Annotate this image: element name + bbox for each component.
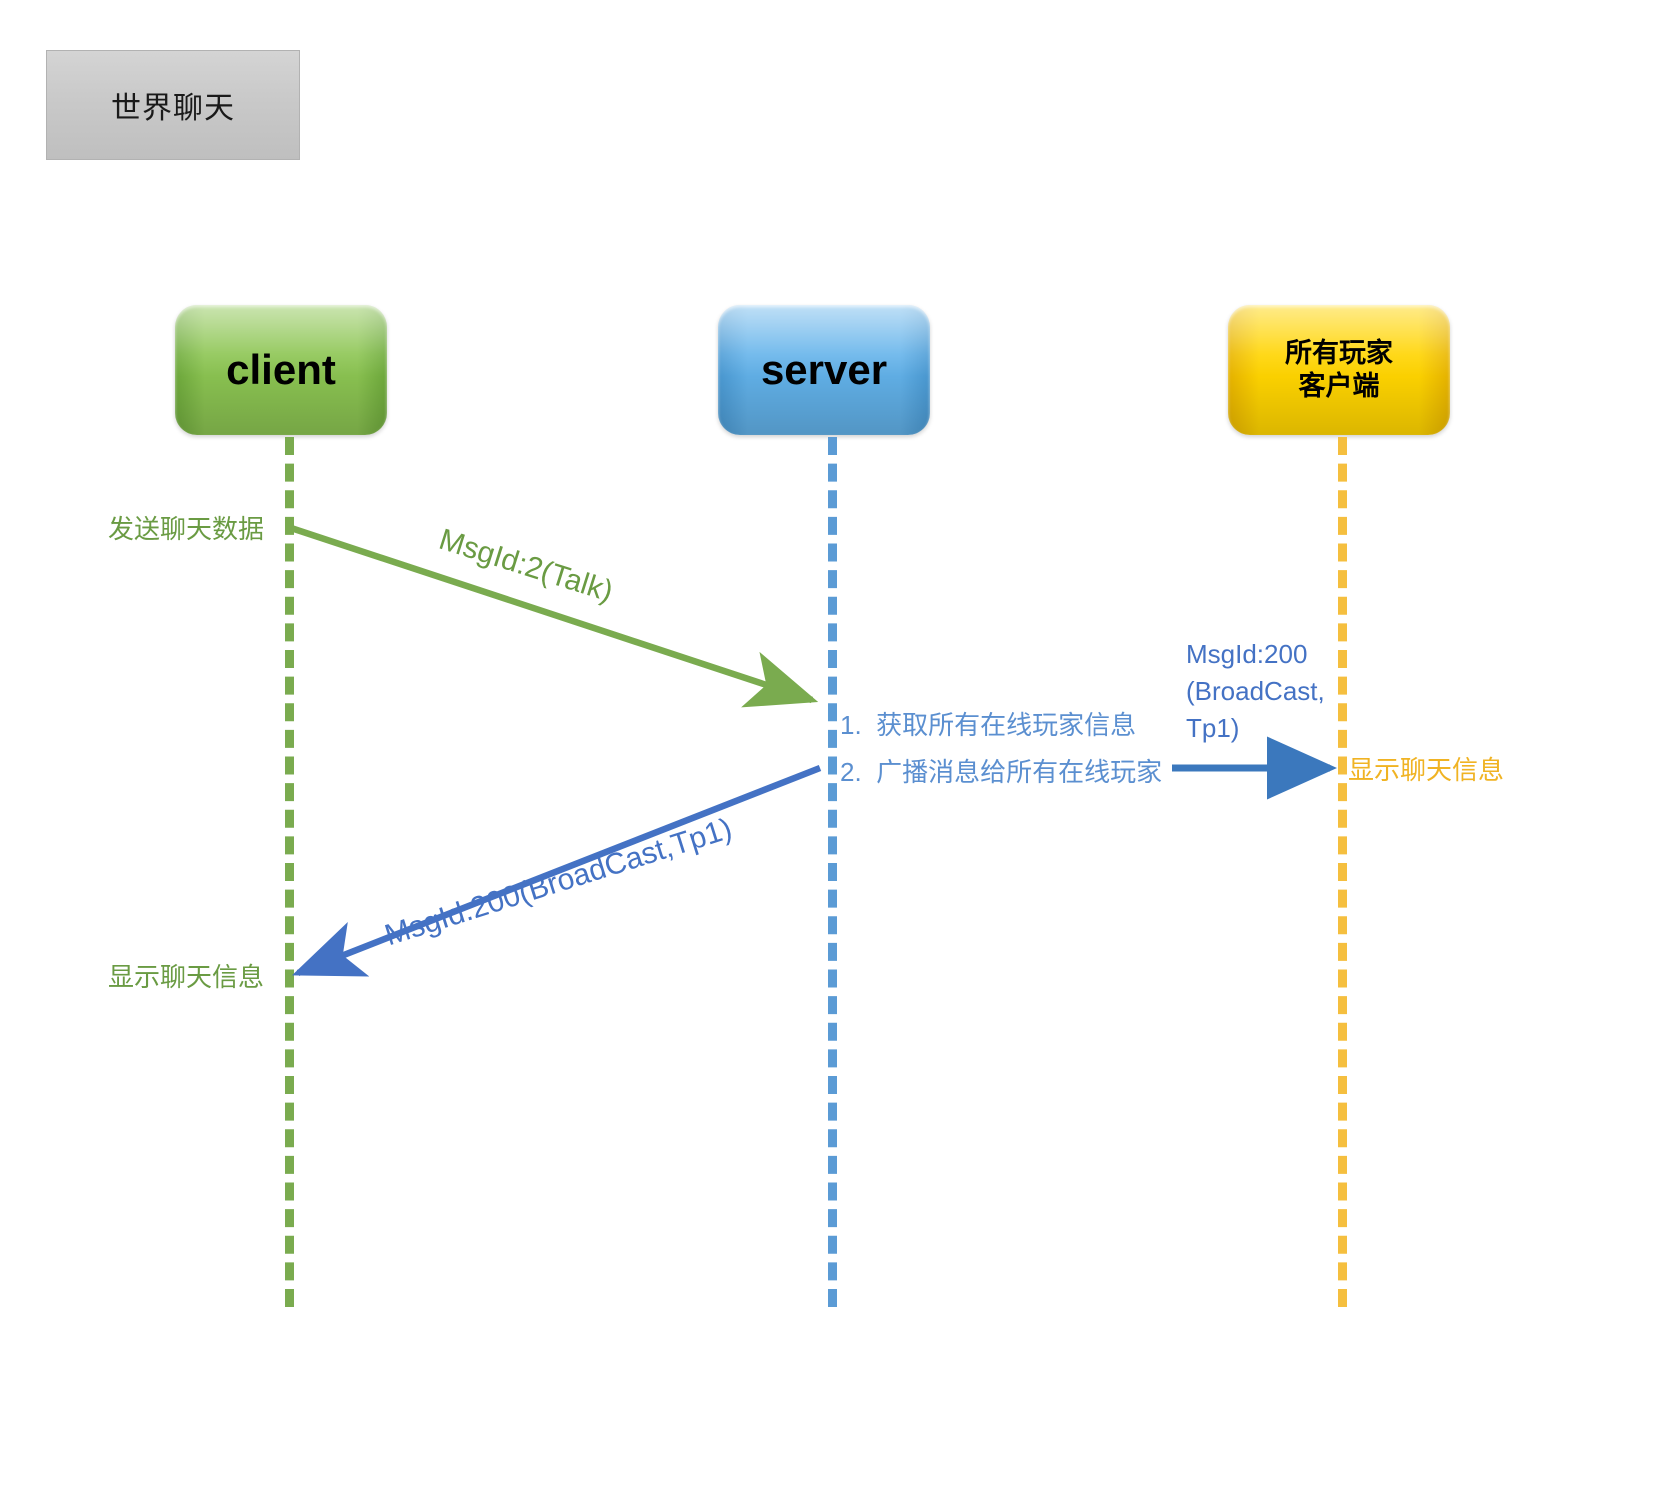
message-label-broadcast-to-all-line1: MsgId:200 bbox=[1186, 636, 1326, 673]
lifeline-all-players bbox=[1338, 437, 1347, 1307]
server-processing-steps: 1. 获取所有在线玩家信息 2. 广播消息给所有在线玩家 bbox=[840, 705, 1162, 799]
participant-all-players-label-line1: 所有玩家 bbox=[1285, 337, 1393, 370]
note-show-chat-info-all-players: 显示聊天信息 bbox=[1348, 753, 1504, 788]
message-label-broadcast-to-all: MsgId:200 (BroadCast, Tp1) bbox=[1186, 636, 1326, 747]
diagram-title-box: 世界聊天 bbox=[46, 50, 300, 160]
message-label-broadcast-to-all-line3: Tp1) bbox=[1186, 710, 1326, 747]
lifeline-server bbox=[828, 437, 837, 1307]
note-send-chat-data: 发送聊天数据 bbox=[108, 512, 264, 547]
message-label-broadcast-to-client: MsgId:200(BroadCast,Tp1) bbox=[380, 809, 737, 956]
participant-all-players-client[interactable]: 所有玩家 客户端 bbox=[1228, 305, 1450, 435]
participant-server-label: server bbox=[761, 344, 887, 395]
participant-server[interactable]: server bbox=[718, 305, 930, 435]
message-label-broadcast-to-all-line2: (BroadCast, bbox=[1186, 673, 1326, 710]
server-step-2: 2. 广播消息给所有在线玩家 bbox=[840, 752, 1162, 789]
diagram-title-label: 世界聊天 bbox=[111, 83, 235, 127]
server-step-1: 1. 获取所有在线玩家信息 bbox=[840, 705, 1162, 742]
participant-client[interactable]: client bbox=[175, 305, 387, 435]
message-label-talk: MsgId:2(Talk) bbox=[434, 520, 618, 613]
lifeline-client bbox=[285, 437, 294, 1307]
sequence-diagram-canvas: 世界聊天 client server 所有玩家 客户端 bbox=[0, 0, 1654, 1498]
participant-client-label: client bbox=[226, 344, 336, 395]
participant-all-players-label-line2: 客户端 bbox=[1299, 370, 1380, 403]
note-show-chat-info-client: 显示聊天信息 bbox=[108, 960, 264, 995]
message-arrows-layer bbox=[0, 0, 1654, 1498]
